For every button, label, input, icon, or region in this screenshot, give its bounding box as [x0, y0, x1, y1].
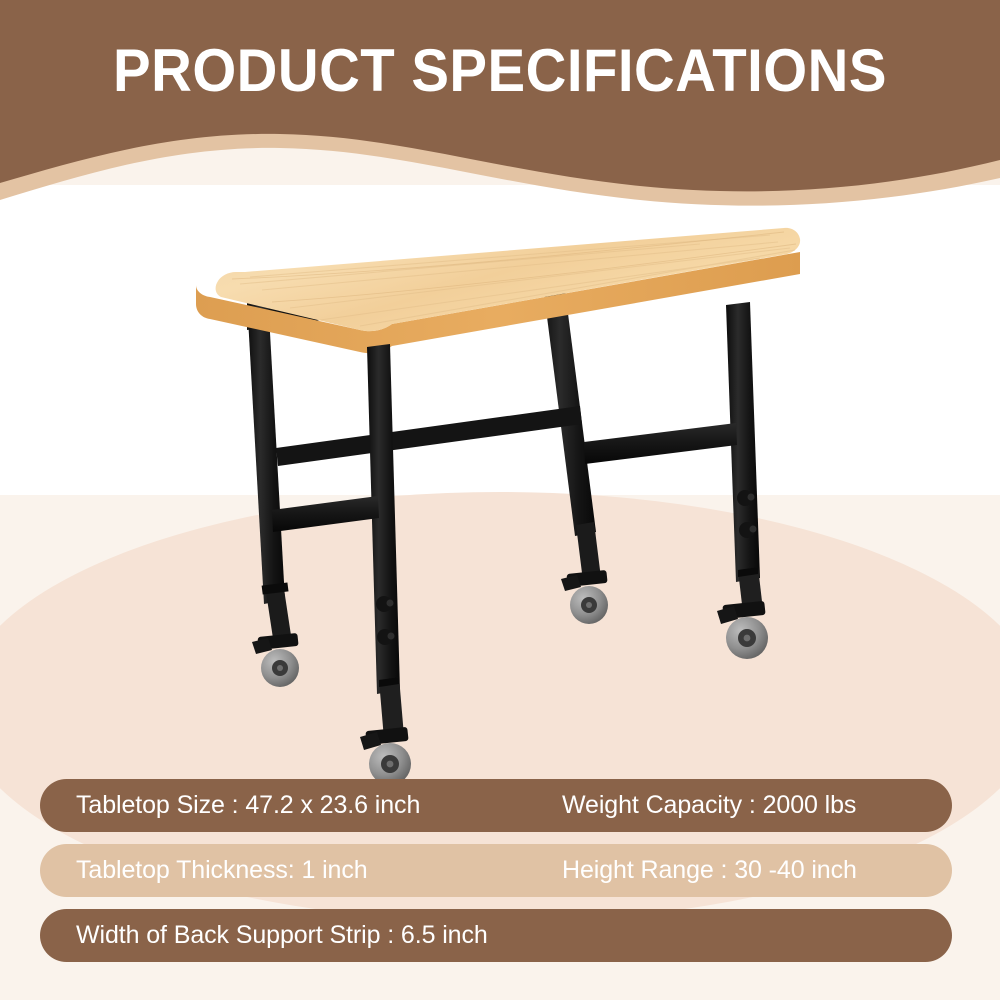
front-left-leg [367, 344, 404, 739]
caster-rear-right [561, 570, 608, 624]
caster-rear-left [252, 633, 299, 687]
spec-row-2: Tabletop Thickness: 1 inch Height Range … [40, 844, 952, 897]
product-spec-page: PRODUCT SPECIFICATIONS [0, 0, 1000, 1000]
spec-tabletop-size: Tabletop Size : 47.2 x 23.6 inch [76, 779, 420, 832]
spec-tabletop-thickness: Tabletop Thickness: 1 inch [76, 844, 368, 897]
specifications-list: Tabletop Size : 47.2 x 23.6 inch Weight … [40, 779, 952, 974]
rear-cross-brace [276, 406, 582, 466]
front-right-leg [726, 302, 763, 613]
product-image [0, 180, 1000, 780]
spec-height-range: Height Range : 30 -40 inch [562, 844, 857, 897]
right-cross-brace [584, 423, 737, 464]
spec-weight-capacity: Weight Capacity : 2000 lbs [562, 779, 856, 832]
caster-front-left [360, 727, 411, 780]
caster-front-right [717, 601, 768, 659]
spec-back-support-strip-width: Width of Back Support Strip : 6.5 inch [76, 909, 488, 962]
rear-left-leg [247, 297, 292, 645]
left-cross-brace [272, 496, 379, 532]
tabletop [196, 228, 800, 353]
spec-row-1: Tabletop Size : 47.2 x 23.6 inch Weight … [40, 779, 952, 832]
spec-row-3: Width of Back Support Strip : 6.5 inch [40, 909, 952, 962]
page-title: PRODUCT SPECIFICATIONS [30, 36, 970, 105]
